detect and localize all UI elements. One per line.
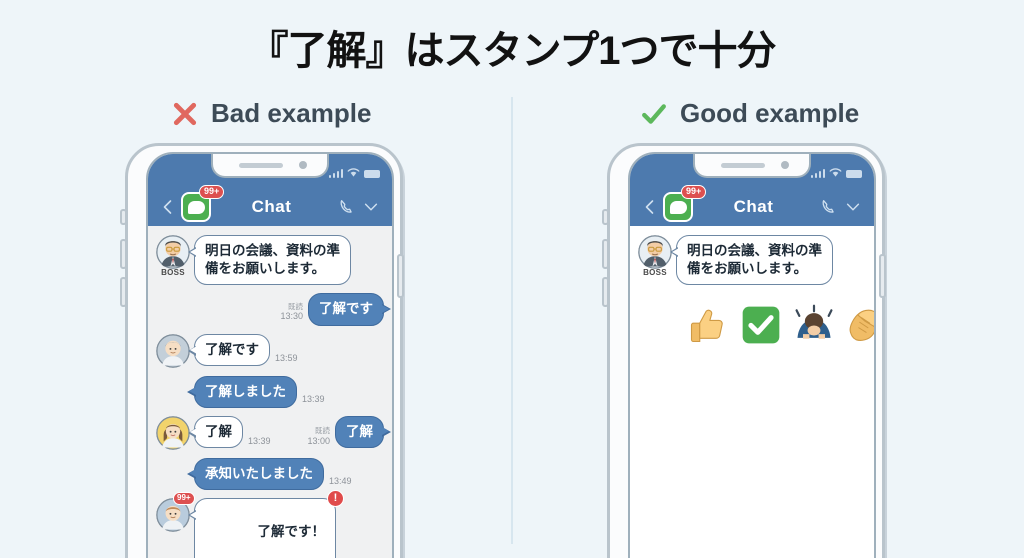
phone-screen: 99+ Chat xyxy=(146,152,394,558)
chat-bubble-glyph xyxy=(188,201,205,214)
phone-notch xyxy=(211,154,329,178)
unread-badge: 99+ xyxy=(199,185,224,199)
chat-message-list[interactable]: BOSS 明日の会議、資料の準 備をお願いします。 既読 13:30 了解です xyxy=(148,226,392,558)
chevron-down-icon[interactable] xyxy=(844,198,862,216)
chat-bubble-icon[interactable]: 99+ xyxy=(181,192,211,222)
signal-bars-icon xyxy=(811,169,826,178)
check-mark-icon xyxy=(641,101,667,127)
phone-icon[interactable] xyxy=(820,198,838,216)
phone-bad-example: 99+ Chat xyxy=(113,143,403,558)
message-bubble[interactable]: 了解 xyxy=(335,416,384,448)
message-bubble[interactable]: 了解です xyxy=(194,334,270,366)
cross-mark-icon xyxy=(172,101,198,127)
app-header: 99+ Chat xyxy=(148,188,392,226)
section-label-good: Good example xyxy=(680,98,859,129)
chat-message-row: BOSS 明日の会議、資料の準 備をお願いします。 xyxy=(156,235,384,285)
phone-power-button[interactable] xyxy=(879,254,886,298)
section-header-good: Good example xyxy=(641,98,859,129)
avatar[interactable]: BOSS xyxy=(156,235,190,269)
battery-icon xyxy=(846,170,862,178)
read-receipt: 既読 xyxy=(280,302,303,311)
chat-bubble-icon[interactable]: 99+ xyxy=(663,192,693,222)
chat-message-row: 既読 13:30 了解です xyxy=(156,293,384,325)
speaker-grille xyxy=(721,163,765,168)
section-header-bad: Bad example xyxy=(172,98,371,129)
avatar[interactable]: BOSS xyxy=(638,235,672,269)
chat-message-row: BOSS 明日の会議、資料の準 備をお願いします。 xyxy=(638,235,866,285)
read-receipt: 既読 xyxy=(307,426,330,435)
message-bubble[interactable]: 了解です xyxy=(308,293,384,325)
phone-icon[interactable] xyxy=(338,198,356,216)
signal-bars-icon xyxy=(329,169,344,178)
woman-avatar xyxy=(156,416,190,450)
app-title: Chat xyxy=(693,197,814,217)
app-title: Chat xyxy=(211,197,332,217)
wifi-icon xyxy=(347,167,360,178)
thumbs-up-sticker[interactable] xyxy=(686,303,730,347)
status-icons xyxy=(811,167,863,178)
chat-message-row: 了解しました 13:39 xyxy=(156,376,384,408)
avatar[interactable] xyxy=(156,334,190,368)
avatar[interactable] xyxy=(156,416,190,450)
unread-badge: 99+ xyxy=(173,492,195,505)
message-bubble[interactable]: 明日の会議、資料の準 備をお願いします。 xyxy=(676,235,833,285)
status-bar xyxy=(630,154,874,188)
phone-notch xyxy=(693,154,811,178)
avatar-label: BOSS xyxy=(636,268,674,277)
chat-message-row: 承知いたしました 13:49 xyxy=(156,458,384,490)
app-header: 99+ Chat xyxy=(630,188,874,226)
message-time: 13:39 xyxy=(248,436,271,450)
chevron-left-icon[interactable] xyxy=(160,199,176,215)
page-title: 『了解』はスタンプ1つで十分 xyxy=(0,18,1024,76)
status-icons xyxy=(329,167,381,178)
message-bubble[interactable]: 明日の会議、資料の準 備をお願いします。 xyxy=(194,235,351,285)
battery-icon xyxy=(364,170,380,178)
boss-avatar xyxy=(156,235,190,269)
check-mark-sticker[interactable] xyxy=(739,303,783,347)
sticker-row xyxy=(638,293,866,347)
message-bubble[interactable]: 了解しました xyxy=(194,376,297,408)
message-meta: 既読 13:30 xyxy=(280,302,303,326)
chat-message-row: 99+ 了解です！ ! 13:59 xyxy=(156,498,384,558)
message-bubble[interactable]: 了解です！ ! xyxy=(194,498,336,558)
avatar-label: BOSS xyxy=(154,268,192,277)
phone-power-button[interactable] xyxy=(397,254,404,298)
front-camera xyxy=(299,161,307,169)
message-time: 13:49 xyxy=(329,476,352,490)
chat-message-row: 了解 13:39 既読 13:00 了解 xyxy=(156,416,384,450)
message-time: 13:59 xyxy=(275,353,298,367)
section-label-bad: Bad example xyxy=(211,98,371,129)
avatar[interactable]: 99+ xyxy=(156,498,190,532)
speaker-grille xyxy=(239,163,283,168)
boss-avatar xyxy=(638,235,672,269)
chat-bubble-glyph xyxy=(670,201,687,214)
status-bar xyxy=(148,154,392,188)
unread-badge: 99+ xyxy=(681,185,706,199)
chevron-down-icon[interactable] xyxy=(362,198,380,216)
panel-divider xyxy=(511,97,513,544)
screenshot-root: 『了解』はスタンプ1つで十分 Bad example Good example xyxy=(0,0,1024,558)
message-bubble[interactable]: 承知いたしました xyxy=(194,458,324,490)
chat-message-list[interactable]: BOSS 明日の会議、資料の準 備をお願いします。 xyxy=(630,226,874,558)
person-gray-avatar xyxy=(156,334,190,368)
message-time: 13:30 xyxy=(280,311,303,321)
clapping-hands-sticker[interactable] xyxy=(845,303,874,347)
phone-good-example: 99+ Chat xyxy=(595,143,885,558)
phone-frame: 99+ Chat xyxy=(607,143,885,558)
message-meta: 既読 13:00 xyxy=(307,426,330,450)
chevron-left-icon[interactable] xyxy=(642,199,658,215)
phone-frame: 99+ Chat xyxy=(125,143,403,558)
chat-message-row: 了解です 13:59 xyxy=(156,334,384,368)
wifi-icon xyxy=(829,167,842,178)
front-camera xyxy=(781,161,789,169)
message-time: 13:39 xyxy=(302,394,325,408)
message-bubble[interactable]: 了解 xyxy=(194,416,243,448)
phone-screen: 99+ Chat xyxy=(628,152,876,558)
alert-icon: ! xyxy=(327,490,344,507)
message-time: 13:00 xyxy=(307,436,330,446)
bowing-person-sticker[interactable] xyxy=(792,303,836,347)
message-text: 了解です！ xyxy=(258,524,326,539)
